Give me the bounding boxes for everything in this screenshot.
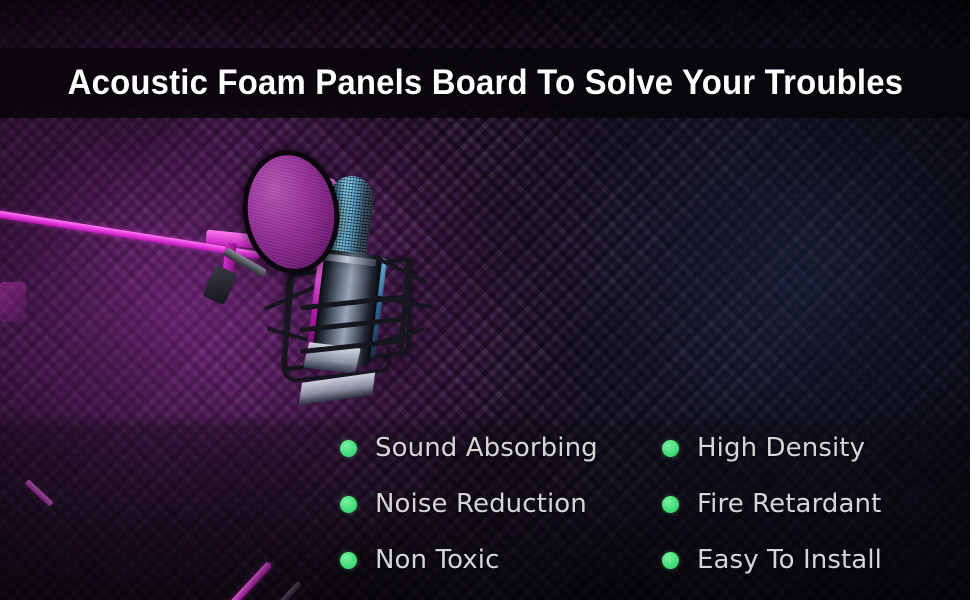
product-banner: Acoustic Foam Panels Board To Solve Your… <box>0 0 970 600</box>
list-item: Sound Absorbing <box>340 433 662 463</box>
list-item: Noise Reduction <box>340 489 662 519</box>
feature-label: High Density <box>697 433 865 463</box>
green-dot-bullet-icon <box>662 552 679 569</box>
feature-label: Easy To Install <box>697 545 882 575</box>
list-item: High Density <box>662 433 940 463</box>
green-dot-bullet-icon <box>340 552 357 569</box>
green-dot-bullet-icon <box>662 496 679 513</box>
list-item: Easy To Install <box>662 545 940 575</box>
feature-label: Sound Absorbing <box>375 433 598 463</box>
feature-label: Noise Reduction <box>375 489 587 519</box>
list-item: Fire Retardant <box>662 489 940 519</box>
headline-bar: Acoustic Foam Panels Board To Solve Your… <box>0 48 970 118</box>
feature-label: Fire Retardant <box>697 489 881 519</box>
page-title: Acoustic Foam Panels Board To Solve Your… <box>67 63 903 103</box>
feature-label: Non Toxic <box>375 545 499 575</box>
green-dot-bullet-icon <box>340 496 357 513</box>
green-dot-bullet-icon <box>662 440 679 457</box>
green-dot-bullet-icon <box>340 440 357 457</box>
list-item: Non Toxic <box>340 545 662 575</box>
feature-list: Sound Absorbing High Density Noise Reduc… <box>340 420 940 588</box>
